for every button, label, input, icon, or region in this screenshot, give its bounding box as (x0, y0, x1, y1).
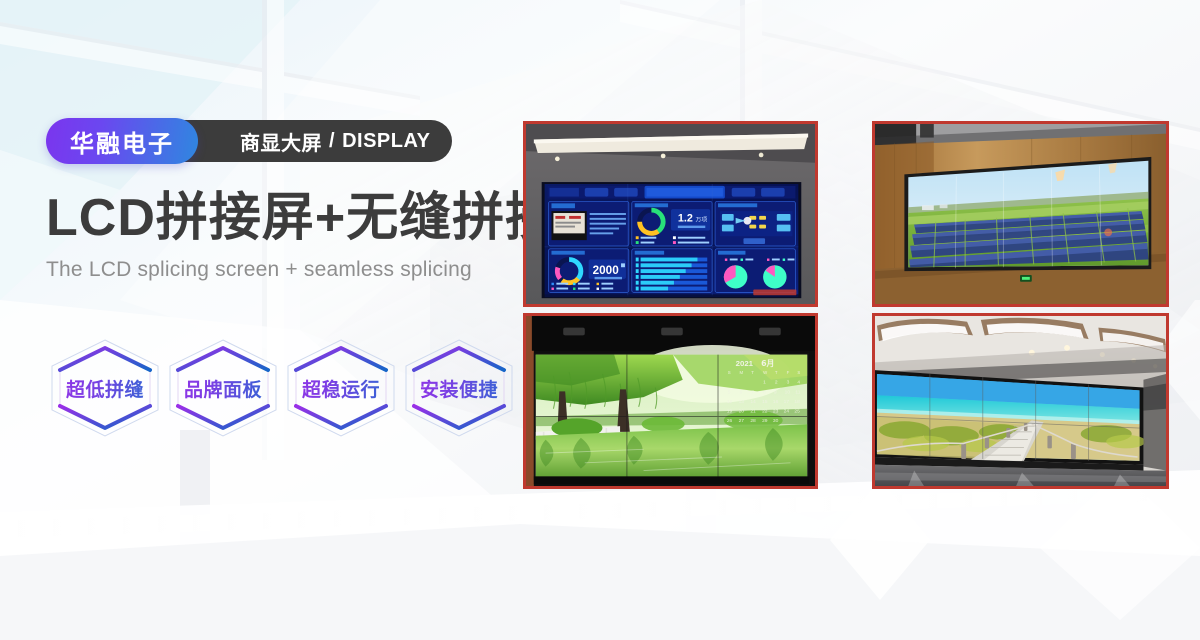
svg-text:9: 9 (774, 389, 777, 395)
beach-videowall-illustration (875, 316, 1166, 486)
feature-badge-3: 超稳运行 (282, 336, 400, 440)
svg-text:1.2: 1.2 (678, 213, 693, 225)
svg-text:24: 24 (784, 409, 790, 415)
dashboard-videowall-illustration: 1.2 万项 (526, 124, 815, 304)
brand-badge-row: 商显大屏 / DISPLAY 华融电子 (46, 118, 516, 164)
svg-text:T: T (775, 370, 778, 375)
brand-name-label: 华融电子 (70, 124, 174, 159)
svg-text:14: 14 (750, 399, 756, 405)
svg-text:28: 28 (750, 418, 756, 424)
photo-image: 1.2 万项 (526, 124, 815, 304)
svg-text:17: 17 (784, 399, 790, 405)
page-subtitle: The LCD splicing screen + seamless splic… (46, 258, 516, 282)
brand-name-pill: 华融电子 (46, 118, 198, 164)
svg-text:22: 22 (762, 409, 768, 415)
svg-text:30: 30 (773, 418, 779, 424)
svg-text:10: 10 (785, 389, 791, 395)
photo-image (875, 316, 1166, 486)
svg-text:12: 12 (727, 399, 733, 405)
svg-text:29: 29 (762, 418, 768, 424)
brand-category-pill: 商显大屏 / DISPLAY (154, 120, 452, 162)
svg-text:2000: 2000 (593, 264, 620, 277)
svg-text:3: 3 (787, 380, 790, 386)
solar-farm-videowall-illustration (875, 124, 1166, 304)
svg-text:T: T (751, 370, 754, 375)
svg-text:25: 25 (794, 409, 800, 415)
promo-banner: 商显大屏 / DISPLAY 华融电子 LCD拼接屏+无缝拼接 The LCD … (0, 0, 1200, 640)
svg-text:11: 11 (795, 389, 800, 395)
feature-label-1: 超低拼缝 (46, 336, 164, 440)
feature-badge-1: 超低拼缝 (46, 336, 164, 440)
svg-text:2: 2 (775, 380, 778, 386)
product-photo-grid: 1.2 万项 (523, 121, 1173, 489)
garden-videowall-illustration: 2021 6月 SMT WTFS 1234 567891011 12131415… (526, 316, 815, 486)
svg-text:6: 6 (740, 389, 743, 395)
photo-solar-farm-videowall (872, 121, 1169, 307)
svg-text:19: 19 (727, 409, 733, 415)
feature-badge-2: 品牌面板 (164, 336, 282, 440)
svg-text:18: 18 (794, 399, 800, 405)
photo-garden-videowall: 2021 6月 SMT WTFS 1234 567891011 12131415… (523, 313, 818, 489)
svg-text:1: 1 (763, 380, 766, 386)
svg-text:6月: 6月 (761, 359, 774, 368)
photo-image (875, 124, 1166, 304)
brand-category-en: DISPLAY (342, 130, 430, 153)
svg-text:13: 13 (739, 399, 745, 405)
feature-label-3: 超稳运行 (282, 336, 400, 440)
svg-text:2021: 2021 (736, 359, 754, 368)
feature-label-4: 安装便捷 (400, 336, 518, 440)
brand-separator: / (329, 130, 335, 153)
svg-text:万项: 万项 (695, 217, 707, 224)
svg-text:21: 21 (750, 409, 756, 415)
feature-badge-4: 安装便捷 (400, 336, 518, 440)
svg-text:26: 26 (727, 418, 733, 424)
svg-text:27: 27 (739, 418, 745, 424)
feature-label-2: 品牌面板 (164, 336, 282, 440)
headline-block: 商显大屏 / DISPLAY 华融电子 LCD拼接屏+无缝拼接 The LCD … (46, 118, 516, 282)
svg-text:S: S (797, 370, 800, 375)
svg-text:4: 4 (797, 380, 800, 386)
feature-badge-row: 超低拼缝 品牌面板 (46, 336, 518, 440)
svg-text:8: 8 (763, 389, 766, 395)
svg-text:5: 5 (728, 389, 731, 395)
svg-text:16: 16 (773, 399, 779, 405)
svg-text:20: 20 (739, 409, 745, 415)
svg-text:15: 15 (762, 399, 768, 405)
brand-category-cn: 商显大屏 (240, 127, 322, 156)
photo-image: 2021 6月 SMT WTFS 1234 567891011 12131415… (526, 316, 815, 486)
photo-dashboard-videowall: 1.2 万项 (523, 121, 818, 307)
svg-text:F: F (787, 370, 790, 375)
svg-text:S: S (728, 370, 731, 375)
photo-beach-videowall (872, 313, 1169, 489)
page-title: LCD拼接屏+无缝拼接 (46, 190, 516, 246)
svg-text:7: 7 (751, 389, 754, 395)
svg-text:M: M (740, 370, 744, 375)
svg-text:23: 23 (773, 409, 779, 415)
